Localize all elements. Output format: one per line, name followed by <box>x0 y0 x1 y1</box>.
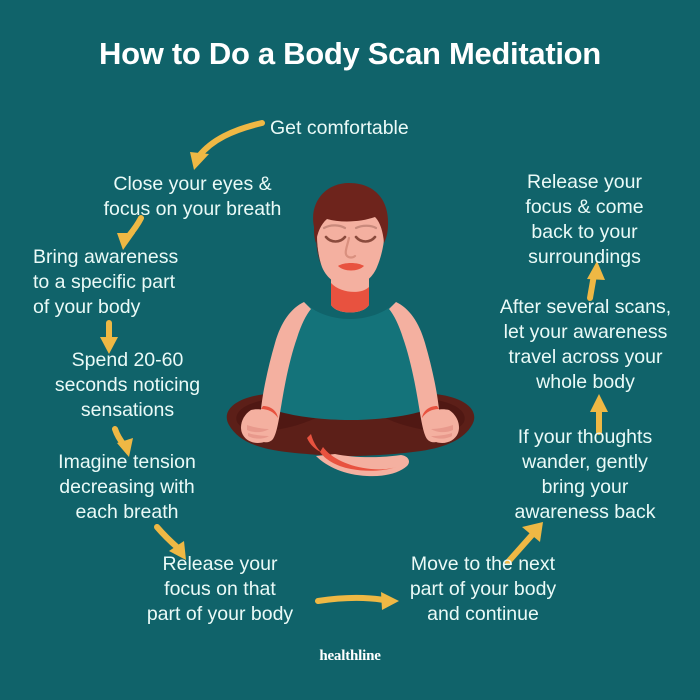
step-move-to-next-part: Move to the next part of your body and c… <box>383 552 583 627</box>
step-bring-awareness: Bring awareness to a specific part of yo… <box>33 245 243 320</box>
arrow-to-release-focus-icon <box>157 527 178 548</box>
step-after-several-scans: After several scans, let your awareness … <box>478 295 693 395</box>
arrow-to-imagine-tension-icon <box>115 429 124 445</box>
step-spend-20-60-seconds: Spend 20-60 seconds noticing sensations <box>20 348 235 423</box>
infographic-canvas: How to Do a Body Scan Meditation <box>0 0 700 700</box>
arrowhead-thoughts-wander <box>522 522 543 542</box>
step-release-focus-on-part: Release your focus on that part of your … <box>120 552 320 627</box>
page-title: How to Do a Body Scan Meditation <box>0 36 700 72</box>
arrow-to-close-eyes-icon <box>199 123 262 156</box>
step-release-and-come-back: Release your focus & come back to your s… <box>482 170 687 270</box>
arrow-to-move-next-icon <box>318 598 384 601</box>
arrowhead-close-eyes <box>190 152 209 170</box>
step-imagine-tension: Imagine tension decreasing with each bre… <box>22 450 232 525</box>
healthline-logo: healthline <box>0 648 700 665</box>
meditating-figure <box>227 183 475 476</box>
step-thoughts-wander: If your thoughts wander, gently bring yo… <box>486 425 684 525</box>
step-close-your-eyes: Close your eyes & focus on your breath <box>70 172 315 222</box>
arrowhead-after-scans <box>590 394 608 412</box>
step-get-comfortable: Get comfortable <box>270 116 490 141</box>
